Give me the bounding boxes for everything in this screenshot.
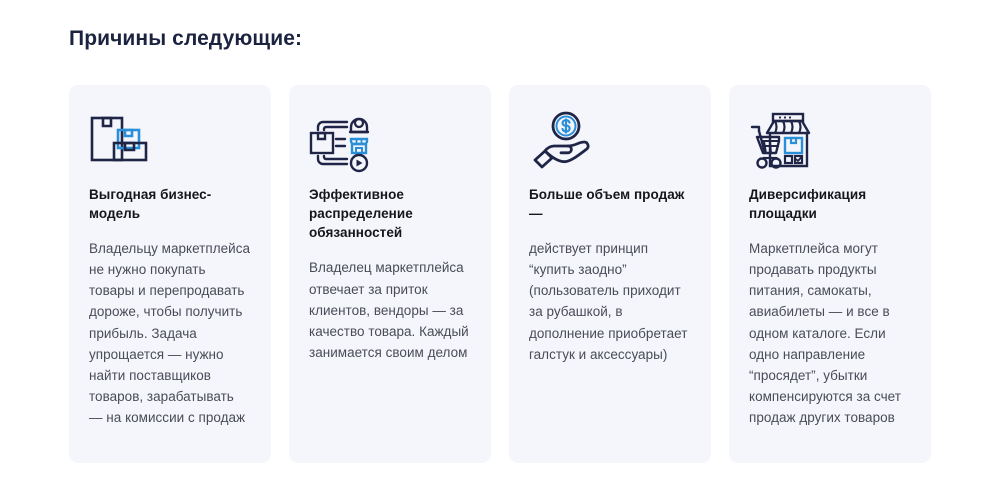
reason-card-1-title: Выгодная бизнес-модель (89, 185, 251, 223)
reason-card-4-body: Маркетплейса могут продавать продукты пи… (749, 238, 911, 427)
cart-storefront-icon (749, 107, 911, 185)
reason-card-2-title: Эффективное распределение обязанностей (309, 185, 471, 242)
reason-card-3-body: действует принцип “купить заодно” (польз… (529, 238, 691, 364)
distribution-network-icon (309, 107, 471, 185)
slide-root: Причины следующие: Выгодная бизнес-модел… (0, 0, 1000, 500)
hand-with-coin-icon (529, 107, 691, 185)
reason-card-2-body: Владелец маркетплейса отвечает за приток… (309, 257, 471, 362)
reason-card-4-title: Диверсификация площадки (749, 185, 911, 223)
reason-card-4[interactable]: Диверсификация площадки Маркетплейса мог… (729, 85, 931, 463)
reason-card-2[interactable]: Эффективное распределение обязанностей В… (289, 85, 491, 463)
reason-card-3[interactable]: Больше объем продаж — действует принцип … (509, 85, 711, 463)
reason-card-3-title: Больше объем продаж — (529, 185, 691, 223)
reasons-card-list: Выгодная бизнес-модель Владельцу маркетп… (69, 85, 931, 463)
reason-card-1-body: Владельцу маркетплейса не нужно покупать… (89, 238, 251, 427)
page-title: Причины следующие: (69, 27, 302, 51)
reason-card-1[interactable]: Выгодная бизнес-модель Владельцу маркетп… (69, 85, 271, 463)
boxes-icon (89, 107, 251, 185)
